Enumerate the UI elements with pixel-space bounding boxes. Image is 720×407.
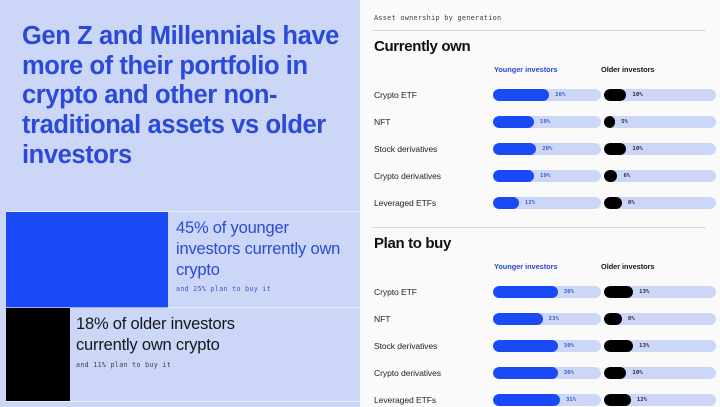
bar-fill-older (604, 197, 622, 209)
bar-value-older: 6% (623, 173, 630, 179)
bar-fill-younger (493, 286, 558, 298)
chart-row-label: Leveraged ETFs (374, 198, 436, 208)
stat-block-older: 18% of older investors currently own cry… (76, 314, 296, 369)
kicker-rule (372, 30, 706, 31)
chart-row: NFT23%8% (372, 305, 706, 332)
bar-track-older (604, 367, 716, 379)
infographic-page: Gen Z and Millennials have more of their… (0, 0, 720, 407)
chart-row: Crypto derivatives30%10% (372, 359, 706, 386)
bar-value-older: 8% (628, 316, 635, 322)
chart-row: Leveraged ETFs31%12% (372, 386, 706, 407)
bar-value-younger: 26% (555, 92, 565, 98)
bar-track-older (604, 286, 716, 298)
chart-rows-currently-own: Crypto ETF26%10%NFT19%5%Stock derivative… (372, 81, 706, 216)
bar-fill-older (604, 313, 622, 325)
chart-rows-plan-to-buy: Crypto ETF30%13%NFT23%8%Stock derivative… (372, 278, 706, 407)
bar-fill-younger (493, 89, 549, 101)
chart-section-plan-to-buy: Plan to buy Younger investors Older inve… (372, 235, 706, 407)
bar-track-older (604, 89, 716, 101)
chart-row-label: Leveraged ETFs (374, 395, 436, 405)
legend-label-younger: Younger investors (494, 65, 558, 74)
chart-row: Crypto derivatives19%6% (372, 162, 706, 189)
stat-swatch-younger (6, 212, 168, 308)
divider-bottom (6, 401, 360, 402)
chart-row: Crypto ETF30%13% (372, 278, 706, 305)
bar-fill-younger (493, 313, 543, 325)
legend-label-older: Older investors (601, 65, 654, 74)
bar-fill-younger (493, 394, 560, 406)
section-rule (372, 227, 706, 228)
left-panel: Gen Z and Millennials have more of their… (0, 0, 360, 407)
chart-row-label: NFT (374, 314, 390, 324)
chart-kicker: Asset ownership by generation (372, 14, 706, 22)
bar-fill-older (604, 143, 626, 155)
chart-legend-2: Younger investors Older investors (372, 262, 706, 276)
bar-value-older: 8% (628, 200, 635, 206)
chart-row: NFT19%5% (372, 108, 706, 135)
bar-track-older (604, 313, 716, 325)
bar-fill-older (604, 116, 615, 128)
stat-block-younger: 45% of younger investors currently own c… (176, 218, 356, 293)
bar-track-younger (493, 197, 601, 209)
stat-headline-older: 18% of older investors currently own cry… (76, 314, 296, 356)
chart-section-currently-own: Currently own Younger investors Older in… (372, 38, 706, 216)
bar-track-younger (493, 286, 601, 298)
bar-value-younger: 12% (525, 200, 535, 206)
bar-fill-younger (493, 143, 536, 155)
bar-track-younger (493, 367, 601, 379)
bar-fill-younger (493, 116, 534, 128)
bar-track-older (604, 394, 716, 406)
bar-fill-older (604, 394, 631, 406)
bar-fill-older (604, 286, 633, 298)
bar-track-older (604, 197, 716, 209)
bar-track-younger (493, 340, 601, 352)
right-panel: Asset ownership by generation Currently … (360, 0, 720, 407)
page-headline: Gen Z and Millennials have more of their… (22, 22, 342, 171)
bar-track-younger (493, 89, 601, 101)
chart-legend-1: Younger investors Older investors (372, 65, 706, 79)
chart-row-label: Crypto ETF (374, 90, 417, 100)
legend-label-younger: Younger investors (494, 262, 558, 271)
stat-swatch-older (6, 308, 70, 401)
stat-subtext-older: and 11% plan to buy it (76, 361, 296, 369)
chart-row: Leveraged ETFs12%8% (372, 189, 706, 216)
bar-track-younger (493, 313, 601, 325)
section-spacer (372, 216, 706, 227)
bar-value-younger: 19% (540, 119, 550, 125)
section-title-plan-to-buy: Plan to buy (372, 235, 706, 252)
chart-row-label: Crypto ETF (374, 287, 417, 297)
section-title-currently-own: Currently own (372, 38, 706, 55)
bar-track-older (604, 143, 716, 155)
bar-value-older: 13% (639, 343, 649, 349)
chart-row: Stock derivatives20%10% (372, 135, 706, 162)
bar-track-younger (493, 394, 601, 406)
chart-row-label: Stock derivatives (374, 144, 437, 154)
bar-track-older (604, 340, 716, 352)
bar-value-younger: 23% (549, 316, 559, 322)
stat-headline-younger: 45% of younger investors currently own c… (176, 218, 356, 280)
bar-value-younger: 31% (566, 397, 576, 403)
chart-row-label: Crypto derivatives (374, 368, 441, 378)
bar-value-older: 12% (637, 397, 647, 403)
bar-fill-older (604, 340, 633, 352)
stat-subtext-younger: and 25% plan to buy it (176, 285, 356, 293)
bar-value-younger: 30% (564, 343, 574, 349)
bar-value-younger: 30% (564, 370, 574, 376)
bar-fill-younger (493, 367, 558, 379)
bar-value-older: 13% (639, 289, 649, 295)
bar-fill-younger (493, 170, 534, 182)
chart-row-label: Crypto derivatives (374, 171, 441, 181)
legend-label-older: Older investors (601, 262, 654, 271)
chart-row: Stock derivatives30%13% (372, 332, 706, 359)
bar-fill-older (604, 367, 626, 379)
bar-value-older: 10% (632, 146, 642, 152)
bar-fill-younger (493, 197, 519, 209)
chart-row-label: Stock derivatives (374, 341, 437, 351)
chart-row-label: NFT (374, 117, 390, 127)
bar-fill-older (604, 89, 626, 101)
bar-value-younger: 20% (542, 146, 552, 152)
bar-fill-older (604, 170, 617, 182)
bar-value-older: 10% (632, 370, 642, 376)
bar-value-older: 5% (621, 119, 628, 125)
bar-value-younger: 19% (540, 173, 550, 179)
bar-track-older (604, 170, 716, 182)
bar-value-younger: 30% (564, 289, 574, 295)
bar-fill-younger (493, 340, 558, 352)
chart-row: Crypto ETF26%10% (372, 81, 706, 108)
bar-value-older: 10% (632, 92, 642, 98)
